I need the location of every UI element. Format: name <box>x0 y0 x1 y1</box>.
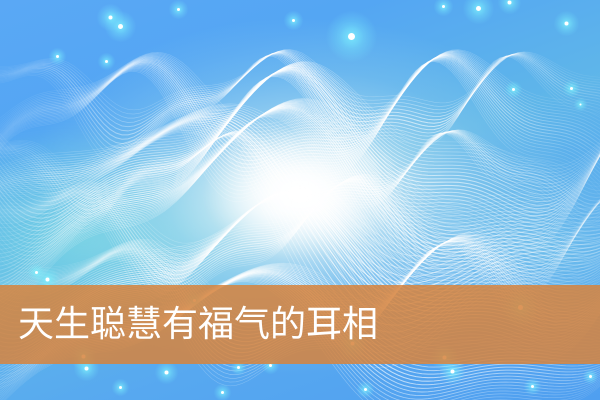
spark-particle <box>222 392 223 393</box>
spark-core <box>589 375 592 378</box>
spark-core <box>56 55 59 58</box>
spark-particle <box>166 372 167 373</box>
spark-halo <box>433 0 453 16</box>
spark-core <box>579 103 581 105</box>
spark-particle <box>178 9 179 10</box>
spark-particle <box>238 367 239 368</box>
spark-core <box>512 88 515 91</box>
spark-particle <box>580 104 581 105</box>
spark-particle <box>57 56 58 57</box>
spark-particle <box>478 8 479 9</box>
spark-halo <box>462 0 494 24</box>
spark-core <box>507 0 511 4</box>
spark-particle <box>270 365 271 366</box>
spark-particle <box>566 23 567 24</box>
spark-core <box>564 21 568 25</box>
spark-core <box>570 87 573 90</box>
title-bar: 天生聪慧有福气的耳相 <box>0 285 600 364</box>
spark-particle <box>590 376 591 377</box>
spark-particle <box>443 6 444 7</box>
spark-core <box>476 6 481 11</box>
spark-core <box>164 370 168 374</box>
spark-particle <box>47 279 48 280</box>
spark-core <box>442 5 445 8</box>
spark-core <box>292 19 295 22</box>
spark-particle <box>365 389 366 390</box>
spark-core <box>348 33 355 40</box>
spark-particle <box>351 36 352 37</box>
spark-particle <box>532 386 533 387</box>
banner-image: 天生聪慧有福气的耳相 <box>0 0 600 400</box>
spark-particle <box>293 20 294 21</box>
spark-particle <box>110 17 111 18</box>
spark-core <box>119 386 122 389</box>
spark-particle <box>571 88 572 89</box>
spark-particle <box>106 61 107 62</box>
spark-core <box>450 369 454 373</box>
banner-title: 天生聪慧有福气的耳相 <box>18 307 378 343</box>
spark-core <box>45 277 49 281</box>
spark-particle <box>452 371 453 372</box>
spark-particle <box>513 89 514 90</box>
spark-core <box>108 15 112 19</box>
spark-core <box>105 60 108 63</box>
spark-core <box>364 388 367 391</box>
spark-core <box>221 391 224 394</box>
spark-core <box>237 366 240 369</box>
spark-particle <box>120 387 121 388</box>
spark-particle <box>509 2 510 3</box>
spark-core <box>531 385 534 388</box>
spark-core <box>177 8 180 11</box>
